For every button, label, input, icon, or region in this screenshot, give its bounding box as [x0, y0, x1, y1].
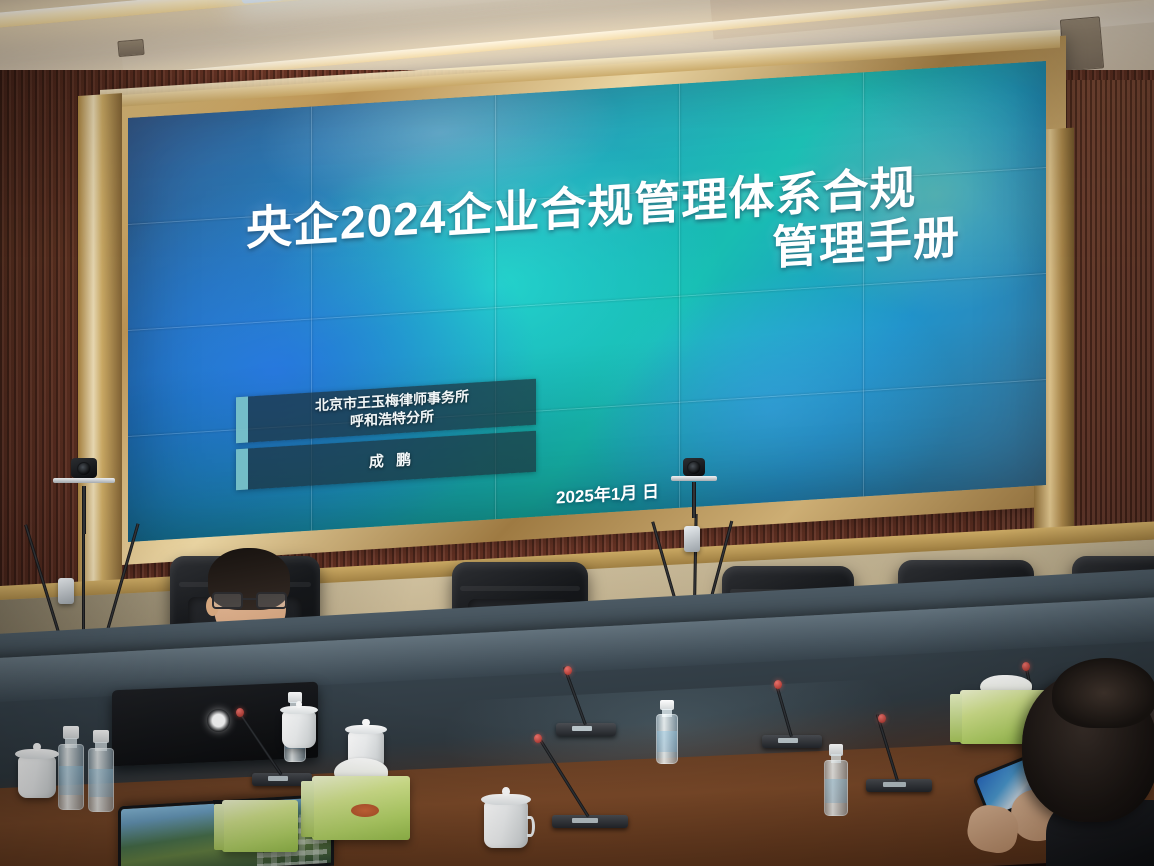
camera-lens-icon — [77, 462, 91, 476]
teacup[interactable] — [484, 786, 528, 848]
microphone-nameplate — [883, 782, 905, 787]
ceiling-air-vent — [117, 39, 144, 57]
bottle-label — [89, 769, 113, 797]
slide-title: 央企2024企业合规管理体系合规 管理手册 — [246, 153, 1046, 308]
bottle-label — [59, 766, 83, 795]
teacup[interactable] — [282, 700, 316, 748]
tripod-crossbar — [671, 476, 717, 481]
led-video-wall[interactable]: 央企2024企业合规管理体系合规 管理手册 北京市王玉梅律师事务所 呼和浩特分所… — [128, 61, 1046, 542]
tissue-box-body — [222, 800, 298, 852]
microphone-capsule — [774, 680, 782, 689]
teacup-body — [18, 757, 56, 798]
microphone-nameplate — [268, 776, 288, 781]
tripod-clip-device — [684, 526, 700, 552]
tripod-clip-device — [58, 578, 74, 604]
microphone-nameplate — [572, 818, 598, 823]
bottle-label — [825, 779, 847, 803]
tissue-box[interactable] — [222, 800, 298, 852]
eyeglass-lens — [212, 592, 243, 609]
conference-microphone[interactable] — [762, 712, 822, 748]
teacup-lid-knob — [296, 701, 303, 708]
teacup-lid-knob — [362, 719, 369, 727]
eyeglass-lens — [256, 592, 287, 609]
conference-microphone[interactable] — [556, 700, 616, 736]
conference-microphone[interactable] — [866, 752, 932, 792]
water-bottle[interactable] — [88, 730, 114, 812]
camera-lens-icon — [687, 461, 701, 475]
microphone-capsule — [534, 734, 542, 743]
presentation-slide: 央企2024企业合规管理体系合规 管理手册 北京市王玉梅律师事务所 呼和浩特分所… — [128, 61, 1046, 542]
tissue-box-side — [214, 804, 224, 850]
tripod-center-column — [692, 482, 696, 518]
water-bottle[interactable] — [656, 700, 678, 764]
person-attendee — [1008, 672, 1154, 866]
teacup-lid — [345, 725, 386, 734]
teacup-body — [484, 802, 528, 848]
water-bottle[interactable] — [824, 744, 848, 816]
microphone-capsule — [1022, 662, 1030, 671]
microphone-nameplate — [572, 726, 592, 731]
microphone-capsule — [236, 708, 244, 717]
teacup-lid-knob — [33, 743, 41, 751]
bottle-label — [657, 731, 677, 753]
conference-room-scene: 央企2024企业合规管理体系合规 管理手册 北京市王玉梅律师事务所 呼和浩特分所… — [0, 0, 1154, 866]
water-bottle[interactable] — [58, 726, 84, 810]
chair-seam — [460, 586, 580, 591]
tissue-box-brand-logo-icon — [351, 804, 378, 817]
tissue-box[interactable] — [312, 776, 410, 840]
microphone-capsule — [878, 714, 886, 723]
tissue-box-side — [301, 781, 314, 837]
teacup-body — [282, 712, 316, 748]
eyeglass-bridge — [243, 598, 256, 600]
conference-microphone[interactable] — [552, 782, 628, 828]
microphone-capsule — [564, 666, 572, 675]
tissue-box-side — [950, 694, 962, 742]
tripod-crossbar — [53, 478, 115, 483]
presenter-name: 成 鹏 — [254, 441, 530, 479]
slide-date: 2025年1月 日 — [556, 477, 659, 508]
tripod-center-column — [82, 486, 86, 534]
laptop-brand-logo-icon — [207, 709, 230, 732]
microphone-nameplate — [778, 738, 798, 743]
teacup[interactable] — [18, 742, 56, 798]
ceiling-air-vent — [1060, 16, 1104, 71]
hair-top — [1052, 658, 1154, 728]
eyeglasses-icon — [212, 592, 290, 609]
